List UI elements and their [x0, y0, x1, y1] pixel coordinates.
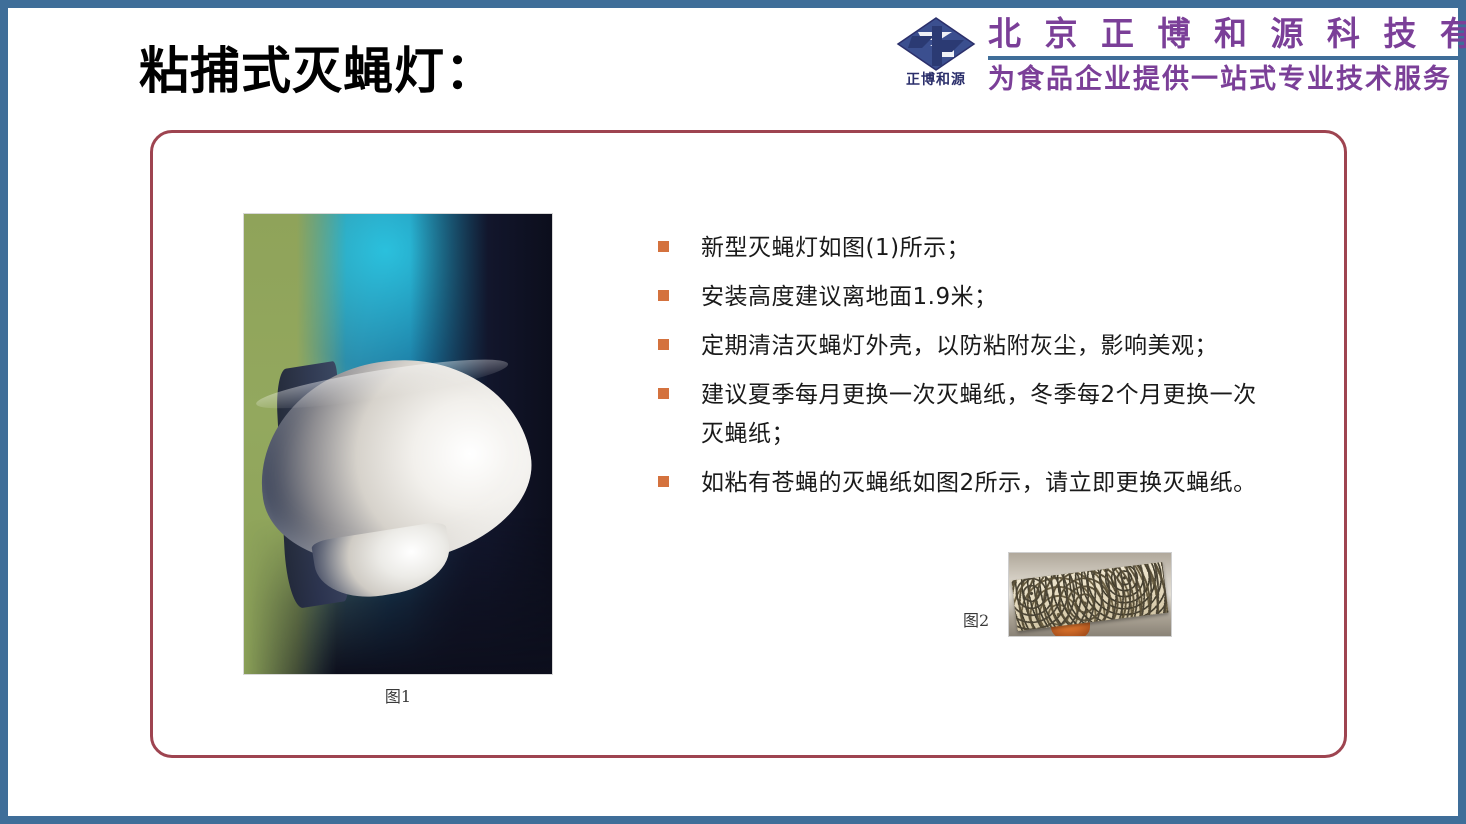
- company-tagline: 为食品企业提供一站式专业技术服务: [988, 63, 1466, 97]
- list-item-label: 建议夏季每月更换一次灭蝇纸，冬季每2个月更换一次灭蝇纸；: [701, 376, 1268, 454]
- fly-lamp-photo: [244, 214, 552, 674]
- bullet-square-icon: [658, 241, 669, 252]
- list-item: 如粘有苍蝇的灭蝇纸如图2所示，请立即更换灭蝇纸。: [658, 464, 1268, 503]
- list-item-label: 安装高度建议离地面1.9米；: [701, 278, 1268, 317]
- list-item: 新型灭蝇灯如图(1)所示；: [658, 229, 1268, 268]
- header-divider: [988, 56, 1466, 60]
- list-item: 建议夏季每月更换一次灭蝇纸，冬季每2个月更换一次灭蝇纸；: [658, 376, 1268, 454]
- page-title: 粘捕式灭蝇灯：: [139, 44, 496, 99]
- company-logo: 正博和源: [888, 14, 984, 87]
- slide-canvas: 正博和源 北 京 正 博 和 源 科 技 有 限 公 司 为食品企业提供一站式专…: [0, 0, 1466, 824]
- company-logo-subtext: 正博和源: [906, 73, 966, 87]
- company-header-text: 北 京 正 博 和 源 科 技 有 限 公 司 为食品企业提供一站式专业技术服务: [984, 14, 1466, 97]
- list-item-label: 如粘有苍蝇的灭蝇纸如图2所示，请立即更换灭蝇纸。: [701, 464, 1268, 503]
- fly-paper-photo: [1009, 553, 1171, 636]
- bullet-square-icon: [658, 339, 669, 350]
- zhengbo-heyuan-logo-icon: [894, 16, 978, 72]
- list-item: 定期清洁灭蝇灯外壳，以防粘附灰尘，影响美观；: [658, 327, 1268, 366]
- figure2-caption: 图2: [963, 607, 989, 631]
- figure2: 图2: [963, 553, 1171, 636]
- bullet-square-icon: [658, 476, 669, 487]
- list-item-label: 定期清洁灭蝇灯外壳，以防粘附灰尘，影响美观；: [701, 327, 1268, 366]
- bullet-square-icon: [658, 388, 669, 399]
- company-header: 正博和源 北 京 正 博 和 源 科 技 有 限 公 司 为食品企业提供一站式专…: [888, 14, 1458, 110]
- company-name: 北 京 正 博 和 源 科 技 有 限 公 司: [988, 14, 1466, 54]
- list-item-label: 新型灭蝇灯如图(1)所示；: [701, 229, 1268, 268]
- bullet-square-icon: [658, 290, 669, 301]
- figure1-caption: 图1: [244, 683, 552, 707]
- list-item: 安装高度建议离地面1.9米；: [658, 278, 1268, 317]
- figure1: 图1: [244, 214, 552, 674]
- content-frame: 图1 新型灭蝇灯如图(1)所示； 安装高度建议离地面1.9米； 定期清洁灭蝇灯外…: [150, 130, 1347, 758]
- bullet-list: 新型灭蝇灯如图(1)所示； 安装高度建议离地面1.9米； 定期清洁灭蝇灯外壳，以…: [658, 229, 1268, 513]
